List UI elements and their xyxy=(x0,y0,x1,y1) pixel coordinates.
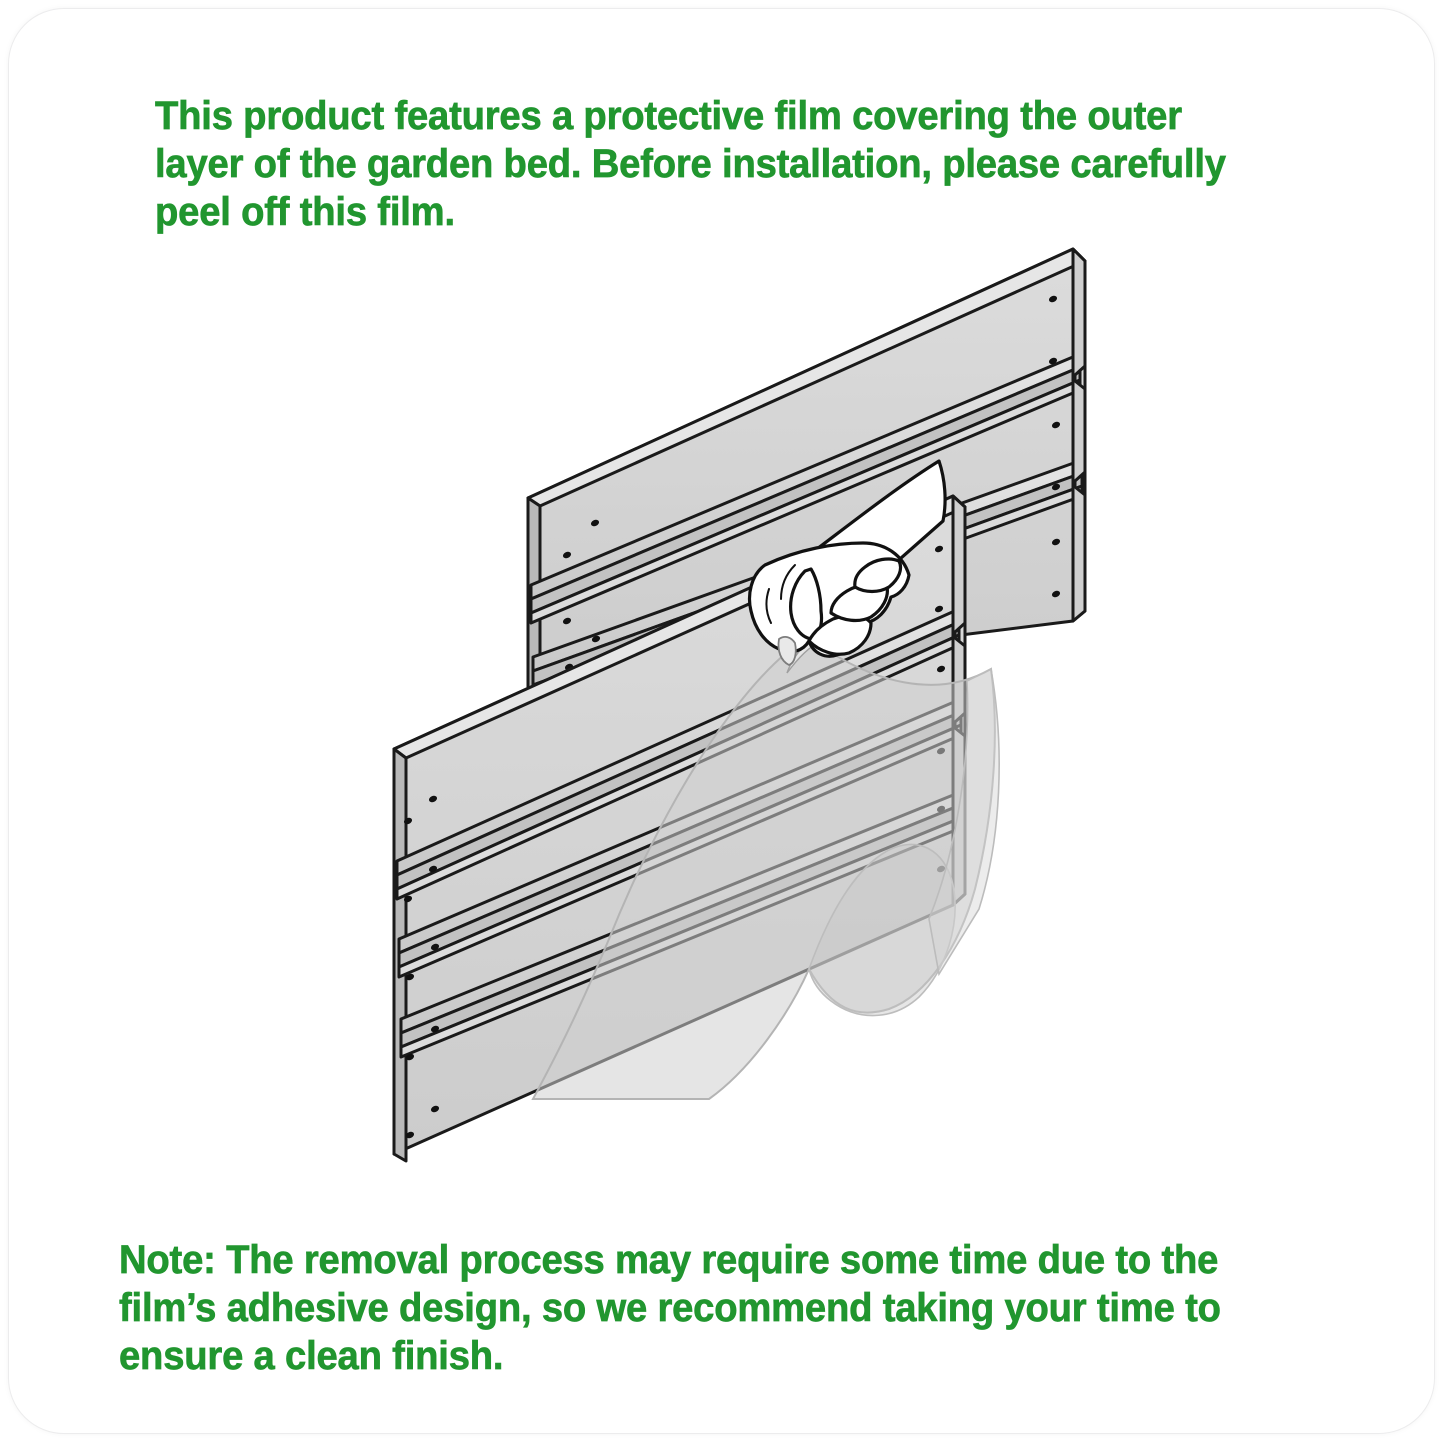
instruction-card: This product features a protective film … xyxy=(8,8,1435,1434)
intro-instruction-text: This product features a protective film … xyxy=(155,92,1272,236)
note-instruction-text: Note: The removal process may require so… xyxy=(119,1236,1303,1380)
